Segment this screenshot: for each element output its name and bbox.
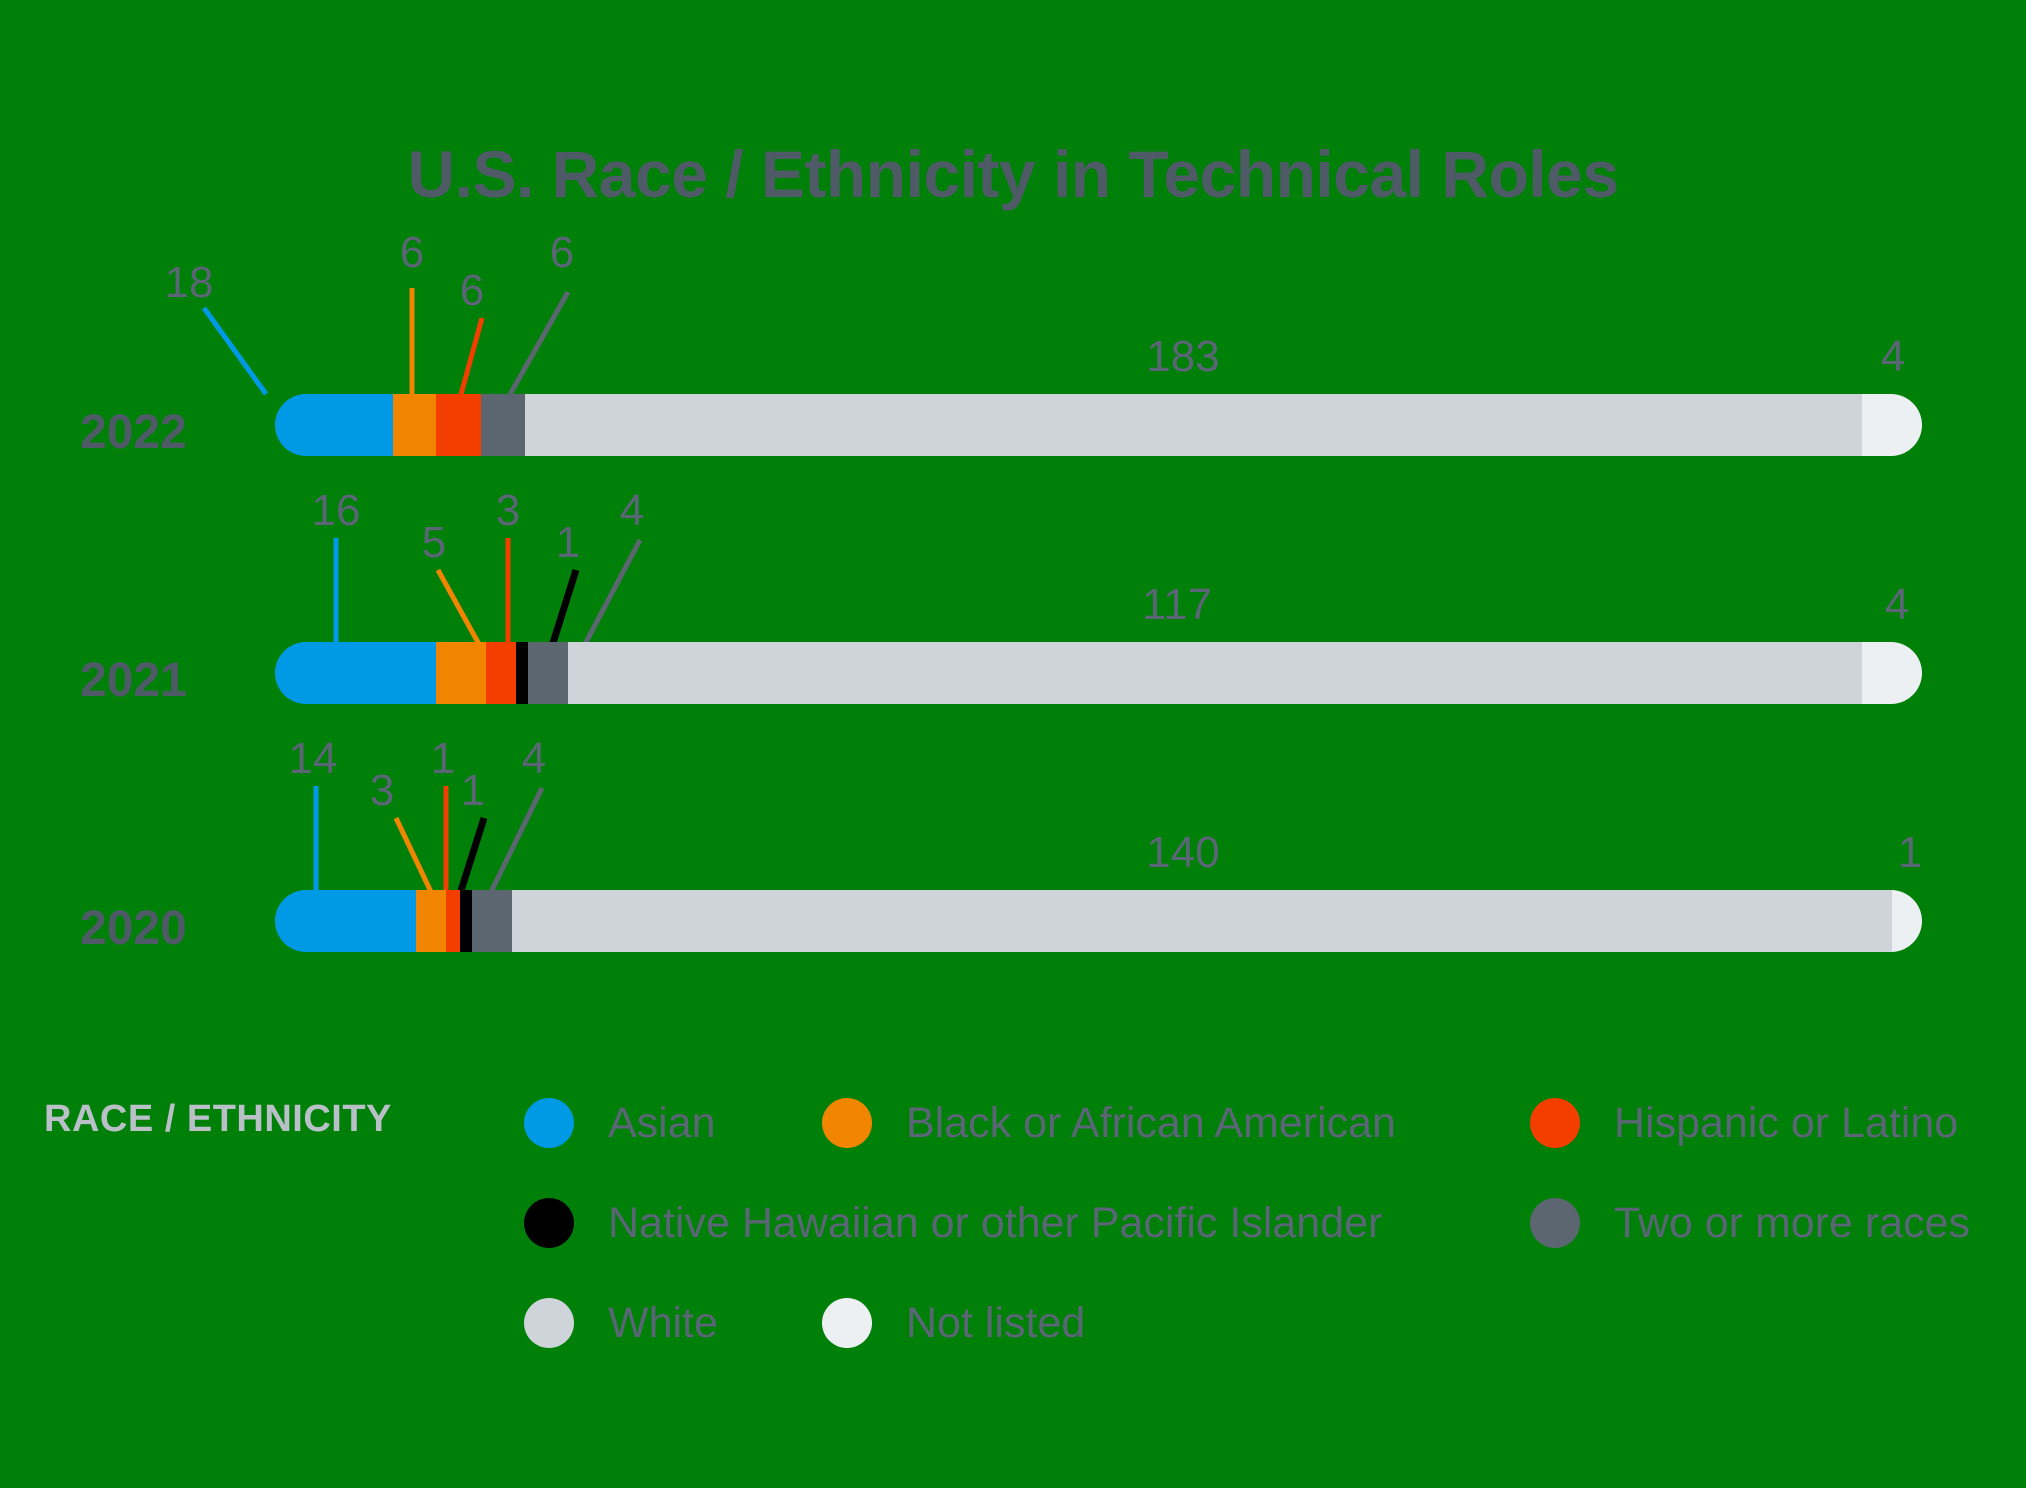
leader-line-2020-twoplus	[476, 784, 554, 896]
segment-black[interactable]	[393, 394, 436, 456]
legend-label-white: White	[608, 1299, 718, 1348]
leader-line-2021-asian	[326, 534, 356, 648]
year-label-2022: 2022	[80, 405, 230, 460]
segment-hispanic[interactable]	[486, 642, 516, 704]
legend-label-twoplus: Two or more races	[1614, 1199, 1970, 1248]
segment-notlisted[interactable]	[1892, 890, 1922, 952]
stacked-bar-2021[interactable]	[275, 642, 1922, 704]
leader-line-2021-hispanic	[498, 534, 528, 648]
bar-row-2020: 2020 14 3 1 1 4 140 1	[0, 786, 2026, 1036]
callout-2022-twoplus: 6	[550, 228, 574, 278]
legend-label-black: Black or African American	[906, 1099, 1396, 1148]
legend-swatch-notlisted-icon	[822, 1298, 872, 1348]
leader-line-2021-black	[430, 566, 490, 648]
value-label-2020-notlisted: 1	[1898, 828, 1922, 878]
legend-heading: RACE / ETHNICITY	[44, 1098, 392, 1141]
leader-line-2020-asian	[306, 782, 336, 896]
segment-asian[interactable]	[275, 642, 436, 704]
segment-white[interactable]	[525, 394, 1862, 456]
value-label-2021-notlisted: 4	[1885, 580, 1909, 630]
leader-line-2022-twoplus	[490, 288, 580, 400]
callout-2022-hispanic: 6	[460, 266, 484, 316]
leader-line-2022-black	[400, 284, 440, 400]
segment-black[interactable]	[416, 890, 446, 952]
segment-nhpi[interactable]	[516, 642, 528, 704]
legend-label-nhpi: Native Hawaiian or other Pacific Islande…	[608, 1199, 1382, 1248]
segment-white[interactable]	[512, 890, 1892, 952]
leader-line-2021-twoplus	[570, 536, 652, 648]
segment-notlisted[interactable]	[1862, 394, 1922, 456]
segment-nhpi[interactable]	[460, 890, 472, 952]
legend-swatch-nhpi-icon	[524, 1198, 574, 1248]
callout-2021-hispanic: 3	[496, 486, 520, 536]
legend-swatch-asian-icon	[524, 1098, 574, 1148]
callout-2020-black: 3	[370, 766, 394, 816]
callout-2022-black: 6	[400, 228, 424, 278]
legend-swatch-twoplus-icon	[1530, 1198, 1580, 1248]
legend-item-nhpi[interactable]: Native Hawaiian or other Pacific Islande…	[524, 1198, 1382, 1248]
value-label-2021-white: 117	[1142, 580, 1212, 630]
year-label-2020: 2020	[80, 901, 230, 956]
segment-asian[interactable]	[275, 394, 393, 456]
legend-item-hispanic[interactable]: Hispanic or Latino	[1530, 1098, 1958, 1148]
segment-twoplus[interactable]	[528, 642, 568, 704]
segment-twoplus[interactable]	[481, 394, 525, 456]
callout-2020-asian: 14	[289, 734, 338, 784]
callout-2021-twoplus: 4	[620, 486, 644, 536]
legend-item-asian[interactable]: Asian	[524, 1098, 716, 1148]
bar-row-2022: 2022 18 6 6 6 183 4	[0, 290, 2026, 540]
value-label-2020-white: 140	[1146, 828, 1219, 878]
legend-label-hispanic: Hispanic or Latino	[1614, 1099, 1958, 1148]
legend-item-twoplus[interactable]: Two or more races	[1530, 1198, 1970, 1248]
segment-asian[interactable]	[275, 890, 416, 952]
segment-twoplus[interactable]	[472, 890, 512, 952]
leader-line-2022-asian	[180, 300, 300, 400]
segment-hispanic[interactable]	[436, 394, 481, 456]
legend-swatch-black-icon	[822, 1098, 872, 1148]
callout-2020-hispanic: 1	[431, 734, 455, 784]
chart-root: U.S. Race / Ethnicity in Technical Roles…	[0, 0, 2026, 1488]
page-title: U.S. Race / Ethnicity in Technical Roles	[0, 136, 2026, 212]
callout-2021-asian: 16	[312, 486, 361, 536]
segment-notlisted[interactable]	[1862, 642, 1922, 704]
callout-2021-black: 5	[422, 518, 446, 568]
value-label-2022-white: 183	[1146, 332, 1219, 382]
legend-item-white[interactable]: White	[524, 1298, 718, 1348]
legend-swatch-hispanic-icon	[1530, 1098, 1580, 1148]
segment-black[interactable]	[436, 642, 486, 704]
segment-white[interactable]	[568, 642, 1862, 704]
legend-label-asian: Asian	[608, 1099, 716, 1148]
legend-item-notlisted[interactable]: Not listed	[822, 1298, 1085, 1348]
legend-item-black[interactable]: Black or African American	[822, 1098, 1396, 1148]
callout-2020-twoplus: 4	[522, 734, 546, 784]
year-label-2021: 2021	[80, 653, 230, 708]
value-label-2022-notlisted: 4	[1881, 332, 1905, 382]
legend: RACE / ETHNICITY Asian Black or African …	[0, 1078, 2026, 1428]
stacked-bar-2020[interactable]	[275, 890, 1922, 952]
leader-line-2020-black	[388, 814, 438, 896]
legend-label-notlisted: Not listed	[906, 1299, 1085, 1348]
segment-hispanic[interactable]	[446, 890, 460, 952]
stacked-bar-2022[interactable]	[275, 394, 1922, 456]
legend-swatch-white-icon	[524, 1298, 574, 1348]
